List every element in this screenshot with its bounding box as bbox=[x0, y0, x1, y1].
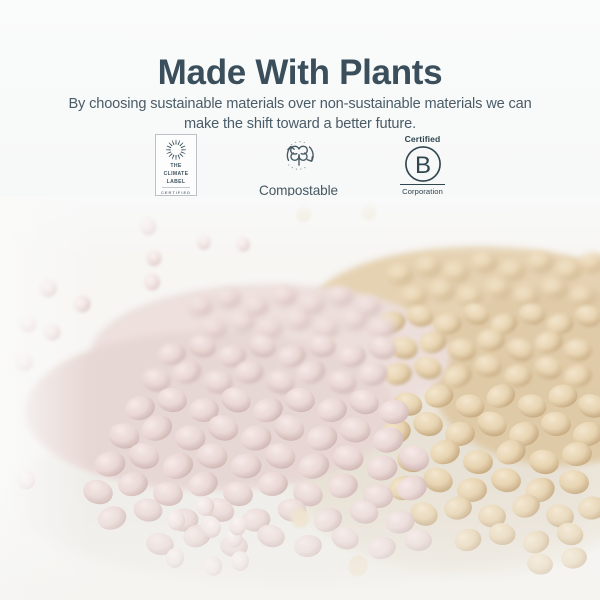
badge-climate-label: THE CLIMATE LABEL CERTIFIED bbox=[155, 134, 197, 196]
climate-label-footer: CERTIFIED bbox=[161, 190, 191, 195]
climate-label-line3: LABEL bbox=[167, 179, 186, 185]
page-subtitle: By choosing sustainable materials over n… bbox=[50, 94, 550, 134]
b-corp-icon: B bbox=[404, 145, 442, 183]
page-title: Made With Plants bbox=[0, 51, 600, 95]
climate-label-line1: THE bbox=[170, 163, 181, 169]
climate-label-frame: THE CLIMATE LABEL CERTIFIED bbox=[155, 134, 197, 196]
product-sustainability-graphic: Made With Plants By choosing sustainable… bbox=[0, 0, 600, 600]
b-corp-divider bbox=[400, 184, 445, 185]
pellet-photo bbox=[0, 196, 600, 600]
climate-label-line2: CLIMATE bbox=[164, 171, 189, 177]
badge-compostable: Compostable bbox=[259, 134, 338, 198]
svg-text:B: B bbox=[414, 152, 430, 179]
b-corp-top-label: Certified bbox=[405, 134, 441, 144]
climate-label-divider bbox=[162, 187, 190, 188]
compostable-clover-arrows-icon bbox=[276, 134, 322, 176]
pellet-photo-illustration bbox=[0, 196, 600, 600]
badge-b-corporation: Certified B Corporation bbox=[400, 134, 445, 196]
sunburst-icon bbox=[163, 139, 189, 161]
